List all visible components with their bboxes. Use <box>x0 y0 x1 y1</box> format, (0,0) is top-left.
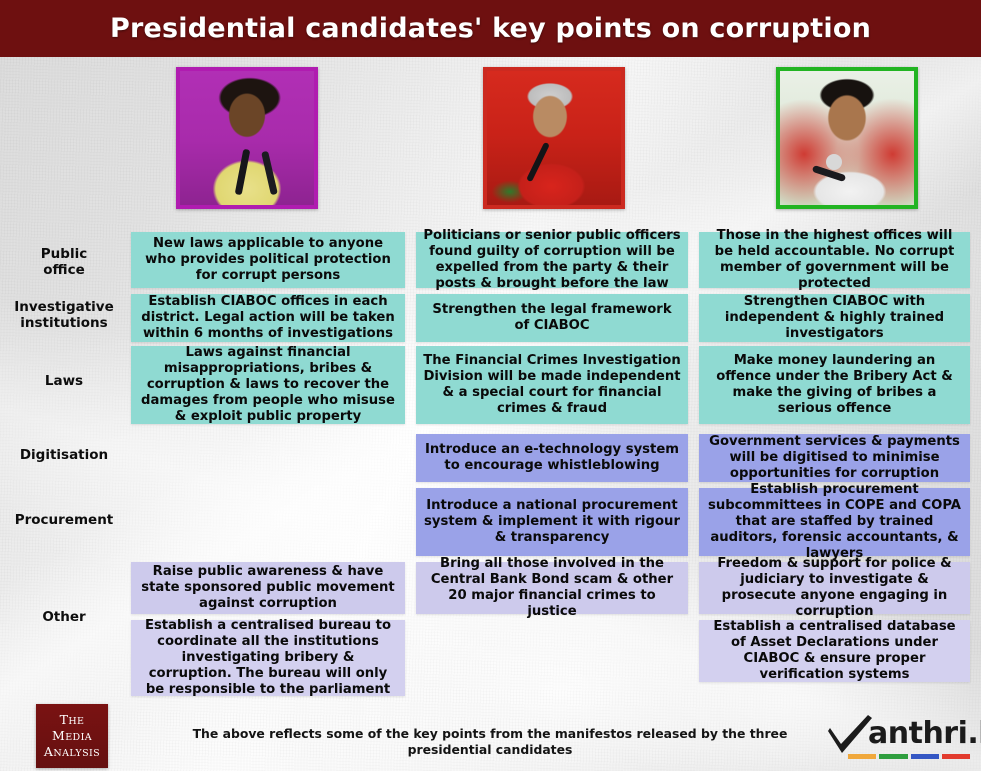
cell-digitisation-c2: Introduce an e-technology system to enco… <box>416 434 688 482</box>
brand-color-bars <box>848 754 970 759</box>
cell-laws-c3: Make money laundering an offence under t… <box>699 346 970 424</box>
cell-other-b-c1: Establish a centralised bureau to coordi… <box>131 620 405 696</box>
candidate-photo-3 <box>776 67 918 209</box>
cell-other-a-c3: Freedom & support for police & judiciary… <box>699 562 970 614</box>
cell-public-office-c2: Politicians or senior public officers fo… <box>416 232 688 288</box>
brand-bar-red <box>942 754 970 759</box>
microphone-icon <box>261 151 278 195</box>
disclaimer-text: The above reflects some of the key point… <box>180 726 800 758</box>
logo-line-analysis: ANALYSIS <box>44 744 100 760</box>
candidate-photo-1 <box>176 67 318 209</box>
infographic-page: Presidential candidates' key points on c… <box>0 0 981 771</box>
cell-investigative-institutions-c1: Establish CIABOC offices in each distric… <box>131 294 405 342</box>
brand-bar-green <box>879 754 907 759</box>
row-label-procurement: Procurement <box>0 513 128 529</box>
the-media-analysis-logo: THE MEDIA ANALYSIS <box>36 704 108 768</box>
cell-public-office-c1: New laws applicable to anyone who provid… <box>131 232 405 288</box>
candidate-portrait-1 <box>180 71 314 205</box>
candidate-portrait-2 <box>487 71 621 205</box>
footer: THE MEDIA ANALYSIS The above reflects so… <box>0 700 981 771</box>
candidate-portrait-3 <box>780 71 914 205</box>
cell-other-b-c3: Establish a centralised database of Asse… <box>699 620 970 682</box>
row-label-other: Other <box>0 610 128 626</box>
manthri-brand-text: anthri.lk <box>868 716 981 751</box>
cell-laws-c1: Laws against financial misappropriations… <box>131 346 405 424</box>
cell-investigative-institutions-c2: Strengthen the legal framework of CIABOC <box>416 294 688 342</box>
brand-bar-blue <box>911 754 939 759</box>
cell-laws-c2: The Financial Crimes Investigation Divis… <box>416 346 688 424</box>
cell-public-office-c3: Those in the highest offices will be hel… <box>699 232 970 288</box>
row-label-investigative-institutions: Investigativeinstitutions <box>0 300 128 331</box>
microphone-icon <box>826 154 842 170</box>
cell-digitisation-c3: Government services & payments will be d… <box>699 434 970 482</box>
microphone-icon <box>526 141 550 181</box>
cell-other-a-c2: Bring all those involved in the Central … <box>416 562 688 614</box>
brand-bar-orange <box>848 754 876 759</box>
cell-procurement-c2: Introduce a national procurement system … <box>416 488 688 556</box>
header-bar: Presidential candidates' key points on c… <box>0 0 981 57</box>
candidate-photo-2 <box>483 67 625 209</box>
logo-line-media: MEDIA <box>52 728 92 744</box>
microphone-icon <box>235 148 251 194</box>
candidate-photo-strip <box>0 57 981 222</box>
cell-procurement-c3: Establish procurement subcommittees in C… <box>699 488 970 556</box>
logo-line-the: THE <box>60 712 85 728</box>
row-label-digitisation: Digitisation <box>0 448 128 464</box>
row-label-laws: Laws <box>0 374 128 390</box>
cell-investigative-institutions-c3: Strengthen CIABOC with independent & hig… <box>699 294 970 342</box>
cell-other-a-c1: Raise public awareness & have state spon… <box>131 562 405 614</box>
comparison-matrix: Publicoffice Investigativeinstitutions L… <box>0 222 981 700</box>
page-title: Presidential candidates' key points on c… <box>110 13 871 44</box>
manthri-lk-logo[interactable]: anthri.lk <box>826 714 974 764</box>
row-label-public-office: Publicoffice <box>0 247 128 278</box>
